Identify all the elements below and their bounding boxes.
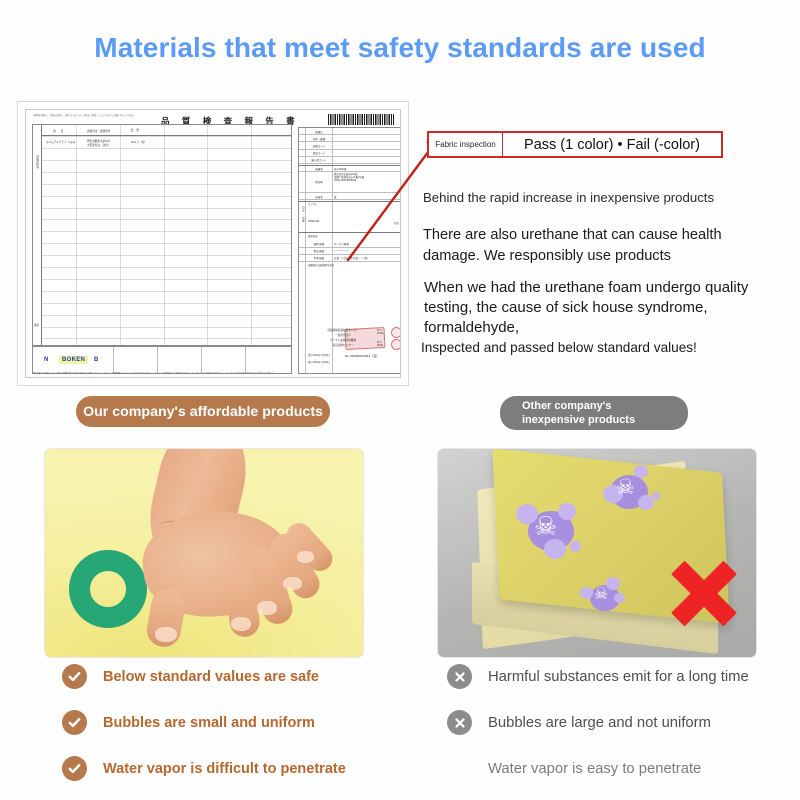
logo-prefix: N [44, 357, 48, 363]
seal-stamp-icon [391, 327, 401, 338]
body-paragraph-2: There are also urethane that can cause h… [423, 225, 753, 267]
list-item-label: Water vapor is difficult to penetrate [103, 761, 346, 777]
ring-nail [283, 577, 302, 590]
page-title: Materials that meet safety standards are… [0, 32, 800, 64]
yellow-foam-block-with-toxins-photo: ☠ ☠ ☠ [437, 448, 757, 658]
list-item: Harmful substances emit for a long time [447, 664, 787, 689]
table-col1-header: 項 目 [53, 129, 63, 133]
list-item: Bubbles are small and uniform [62, 710, 392, 735]
hazard-blob [558, 503, 576, 520]
body-paragraph-1: Behind the rapid increase in inexpensive… [423, 190, 753, 205]
skull-crossbones-icon: ☠ [616, 477, 635, 498]
index-nail [231, 617, 251, 631]
benefits-list: Below standard values are safe Bubbles a… [62, 664, 392, 781]
check-circle-icon [62, 664, 87, 689]
table-col3-header: 結 果 [131, 128, 139, 132]
little-nail [297, 551, 314, 563]
list-item-label: Bubbles are large and not uniform [488, 715, 711, 731]
boken-logo: BOKEN [59, 356, 88, 364]
table-side-label: 試験結果 [35, 155, 39, 169]
drawbacks-list: Harmful substances emit for a long time … [447, 664, 787, 781]
panel-section2-code: 20598-001 [308, 220, 319, 223]
report-number: No. 62024007165-1（完） [345, 354, 379, 358]
stamp-row-label: 発 行 担当者 [377, 329, 383, 335]
list-item: Below standard values are safe [62, 664, 392, 689]
banner-other-company: Other company's inexpensive products [500, 396, 688, 430]
receipt-date: 受付:2024年 3月23日 [308, 353, 330, 357]
cert-line: 商品総権監査取扱センター [313, 328, 373, 332]
panel-row-key: 商品コード [306, 151, 332, 155]
panel-row-key: 適用 規格 [306, 242, 332, 246]
callout-label: Fabric inspection [429, 133, 503, 156]
stamp-row-label: 発 行 責任者 [377, 341, 383, 347]
banner-left-label: Our company's affordable products [83, 404, 323, 420]
list-item-label: Below standard values are safe [103, 669, 319, 685]
x-circle-icon [447, 710, 472, 735]
no-icon-placeholder [447, 756, 472, 781]
table-col2-header: 試験方法・試験条件 [87, 129, 110, 133]
red-x-mark-icon [668, 557, 740, 629]
hand-pressing-yellow-foam-photo [44, 448, 364, 658]
document-top-note: 本書類は御社に「製品の検査」に関するものです。内容をご確認くださいますようお願い… [33, 115, 153, 118]
panel-section2-label: 品名・品番 [301, 206, 305, 223]
fabric-inspection-callout: Fabric inspection Pass (1 color) • Fail … [427, 131, 723, 158]
banner-right-line2: inexpensive products [522, 413, 635, 427]
panel-row-key: 納入者コード [306, 158, 332, 162]
hazard-blob [580, 587, 593, 599]
list-item-label: Water vapor is easy to penetrate [488, 761, 701, 777]
document-footer-table: N BOKEN B [32, 346, 292, 374]
circle-o-mark-icon [69, 550, 147, 628]
check-circle-icon [62, 756, 87, 781]
cert-line: 青島試験センター [313, 343, 373, 347]
infographic-page: Materials that meet safety standards are… [0, 0, 800, 800]
callout-value: Pass (1 color) • Fail (-color) [503, 133, 721, 156]
hazard-blob [634, 465, 648, 478]
middle-nail [257, 601, 277, 615]
body-paragraph-3: When we had the urethane foam undergo qu… [424, 278, 756, 338]
panel-row-key: 製品 検査 [306, 249, 332, 253]
thumb-nail [155, 627, 177, 642]
seal-stamp-icon [391, 339, 401, 350]
logo-suffix: B [94, 357, 98, 363]
panel-row-key: 所在地 [306, 180, 332, 184]
list-item-label: Harmful substances emit for a long time [488, 669, 749, 685]
hazard-blob [652, 492, 660, 500]
skull-crossbones-icon: ☠ [594, 587, 608, 603]
cert-line: 一般財団法人 [313, 333, 373, 337]
cert-line: ボーケン品質評価機構 [313, 338, 373, 342]
table-remarks-label: 備考 [34, 323, 39, 327]
panel-row-key: 依頼先 [306, 130, 332, 134]
table-row1-item: ホルムアルデヒド（μg/g） [46, 140, 77, 144]
list-item: Water vapor is difficult to penetrate [62, 756, 392, 781]
document-main-table: 試験結果 項 目 試験方法・試験条件 結 果 ホルムアルデヒド（μg/g） 厚生… [32, 124, 292, 346]
body-paragraph-4: Inspected and passed below standard valu… [421, 340, 757, 355]
panel-row-key: 住所・郵便 [306, 137, 332, 141]
issue-date: 発行:2024年 3月25日 [308, 360, 330, 364]
list-item-label: Bubbles are small and uniform [103, 715, 315, 731]
panel-row-key: 生地 検査 [306, 256, 332, 260]
panel-section2-value: サンプル [308, 202, 318, 206]
banner-our-company: Our company's affordable products [76, 396, 330, 427]
list-item: Bubbles are large and not uniform [447, 710, 787, 735]
check-circle-icon [62, 710, 87, 735]
banner-right-line1: Other company's [522, 399, 611, 413]
panel-row-key: 分類コード [306, 144, 332, 148]
table-row1-result: 20以下（可） [131, 140, 147, 144]
skull-crossbones-icon: ☠ [534, 513, 557, 539]
panel-row-key: 依頼者 [306, 167, 332, 171]
hazard-blob [570, 541, 581, 552]
table-header-row [33, 125, 291, 136]
list-item: Water vapor is easy to penetrate [447, 756, 787, 781]
hazard-blob [544, 539, 566, 559]
x-circle-icon [447, 664, 472, 689]
panel-row-key: 担当者 [306, 195, 332, 199]
hazard-blob [614, 593, 625, 603]
table-side-column: 試験結果 [33, 125, 42, 345]
panel-section3-label: 検査内容 [308, 234, 318, 238]
table-row1-method: 厚生労働省令第34号 大臣認可法（法令） [87, 139, 111, 147]
